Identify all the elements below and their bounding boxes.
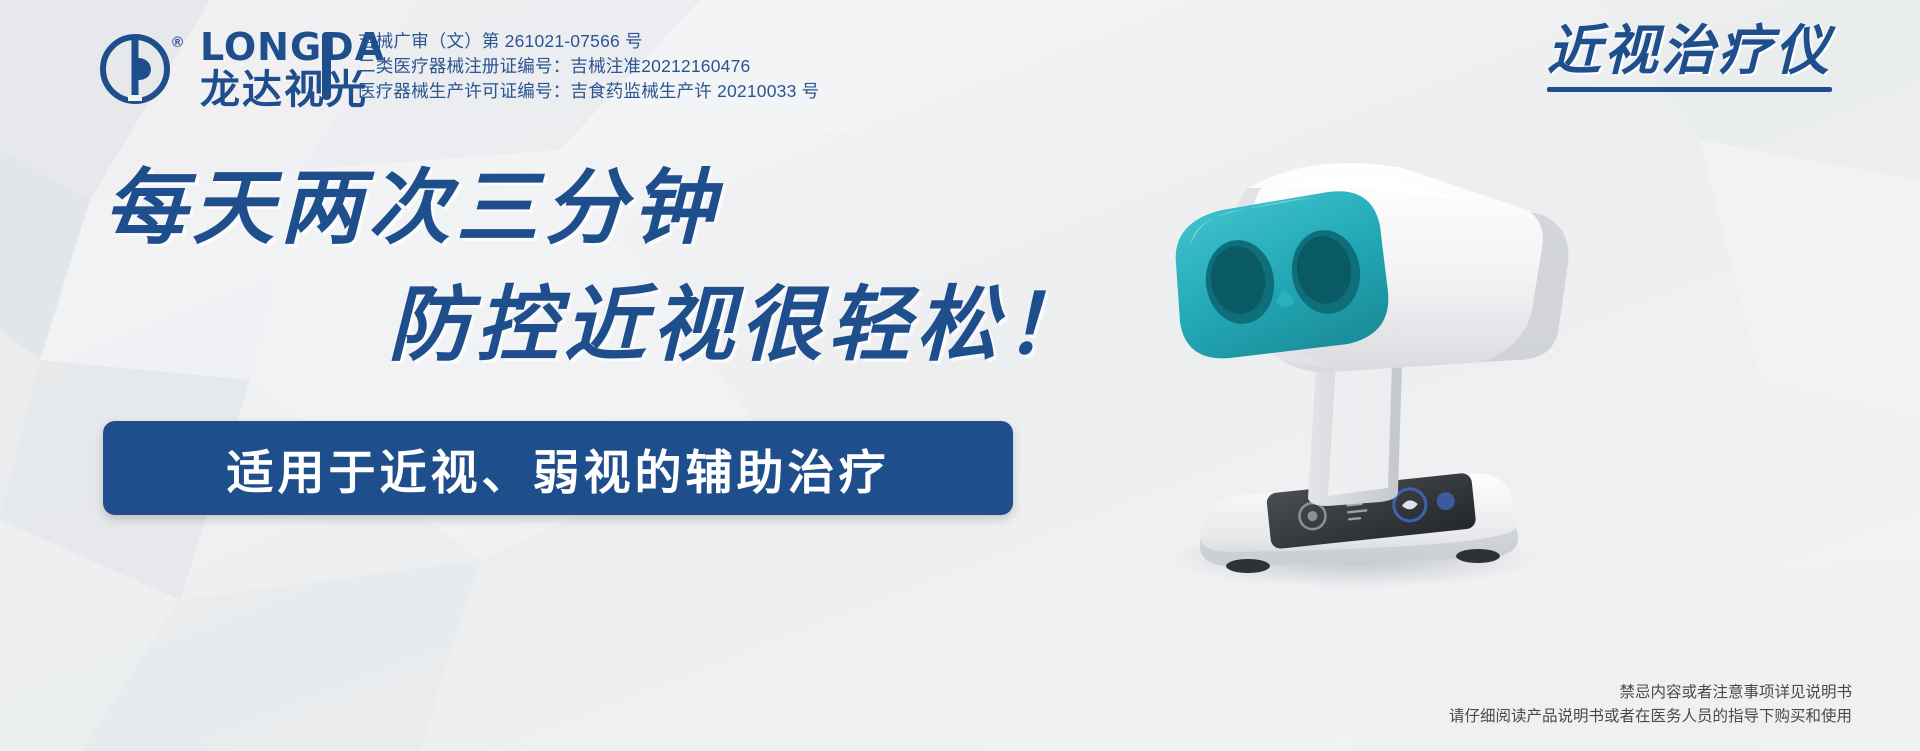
regulatory-info-block: 吉械广审（文）第 261021-07566 号 二类医疗器械注册证编号：吉械注准… [358,29,819,104]
disclaimer-line-2: 请仔细阅读产品说明书或者在医务人员的指导下购买和使用 [1449,705,1852,729]
regulatory-line-2: 二类医疗器械注册证编号：吉械注准20212160476 [358,54,819,79]
disclaimer-block: 禁忌内容或者注意事项详见说明书 请仔细阅读产品说明书或者在医务人员的指导下购买和… [1449,681,1852,729]
regulatory-line-1: 吉械广审（文）第 261021-07566 号 [358,29,819,54]
headline-line-1: 每天两次三分钟 [104,168,720,250]
disclaimer-line-1: 禁忌内容或者注意事项详见说明书 [1449,681,1852,705]
product-device-image [1080,96,1640,596]
ribbon-text: 适用于近视、弱视的辅助治疗 [227,434,890,503]
product-title: 近视治疗仪 [1547,22,1832,81]
product-title-block: 近视治疗仪 [1547,22,1832,92]
longda-circle-eye-logo-icon: ® [98,32,172,106]
regulatory-line-3: 医疗器械生产许可证编号：吉食药监械生产许 20210033 号 [358,79,819,104]
vertical-bar-divider [322,32,331,100]
product-title-underline [1547,87,1832,92]
ribbon-banner: 适用于近视、弱视的辅助治疗 [103,421,1013,515]
advertisement-banner: ® LONGDA 龙达视光 吉械广审（文）第 261021-07566 号 二类… [0,0,1920,751]
brand-logo: ® LONGDA 龙达视光 [98,28,385,111]
headline-line-2: 防控近视很轻松！ [388,285,1092,367]
registered-trademark-icon: ® [172,34,183,51]
